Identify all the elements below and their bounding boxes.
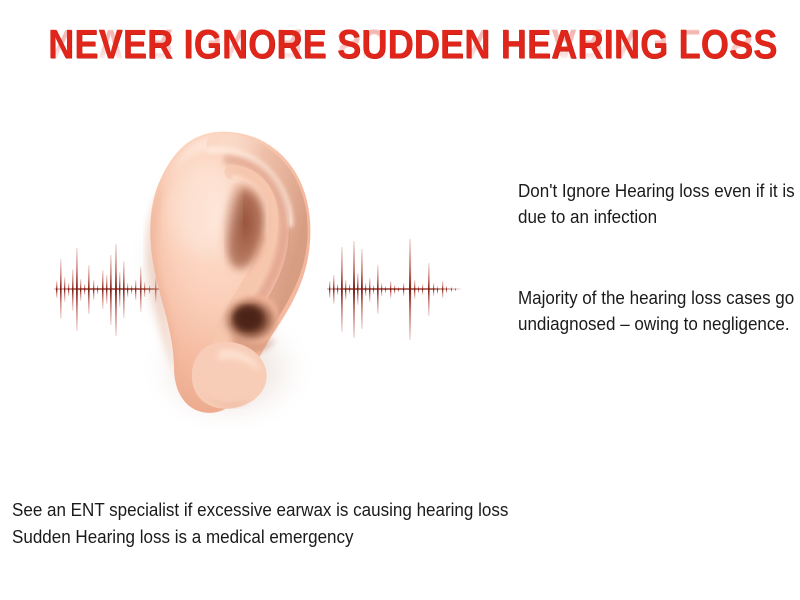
note-ent-specialist: See an ENT specialist if excessive earwa… (12, 497, 582, 523)
page-title: NEVER IGNORE SUDDEN HEARING LOSS (48, 22, 752, 66)
reflection-mask (0, 66, 470, 110)
ear-canal-opening (234, 306, 262, 330)
poster-canvas: NEVER IGNORE SUDDEN HEARING LOSS NEVER I… (0, 0, 800, 600)
note-infection: Don't Ignore Hearing loss even if it is … (518, 178, 800, 230)
note-medical-emergency: Sudden Hearing loss is a medical emergen… (12, 524, 582, 550)
ear-gloss (168, 158, 236, 254)
title-block: NEVER IGNORE SUDDEN HEARING LOSS NEVER I… (0, 22, 800, 102)
sound-wave-right-icon (325, 237, 465, 342)
note-undiagnosed: Majority of the hearing loss cases go un… (518, 285, 800, 337)
